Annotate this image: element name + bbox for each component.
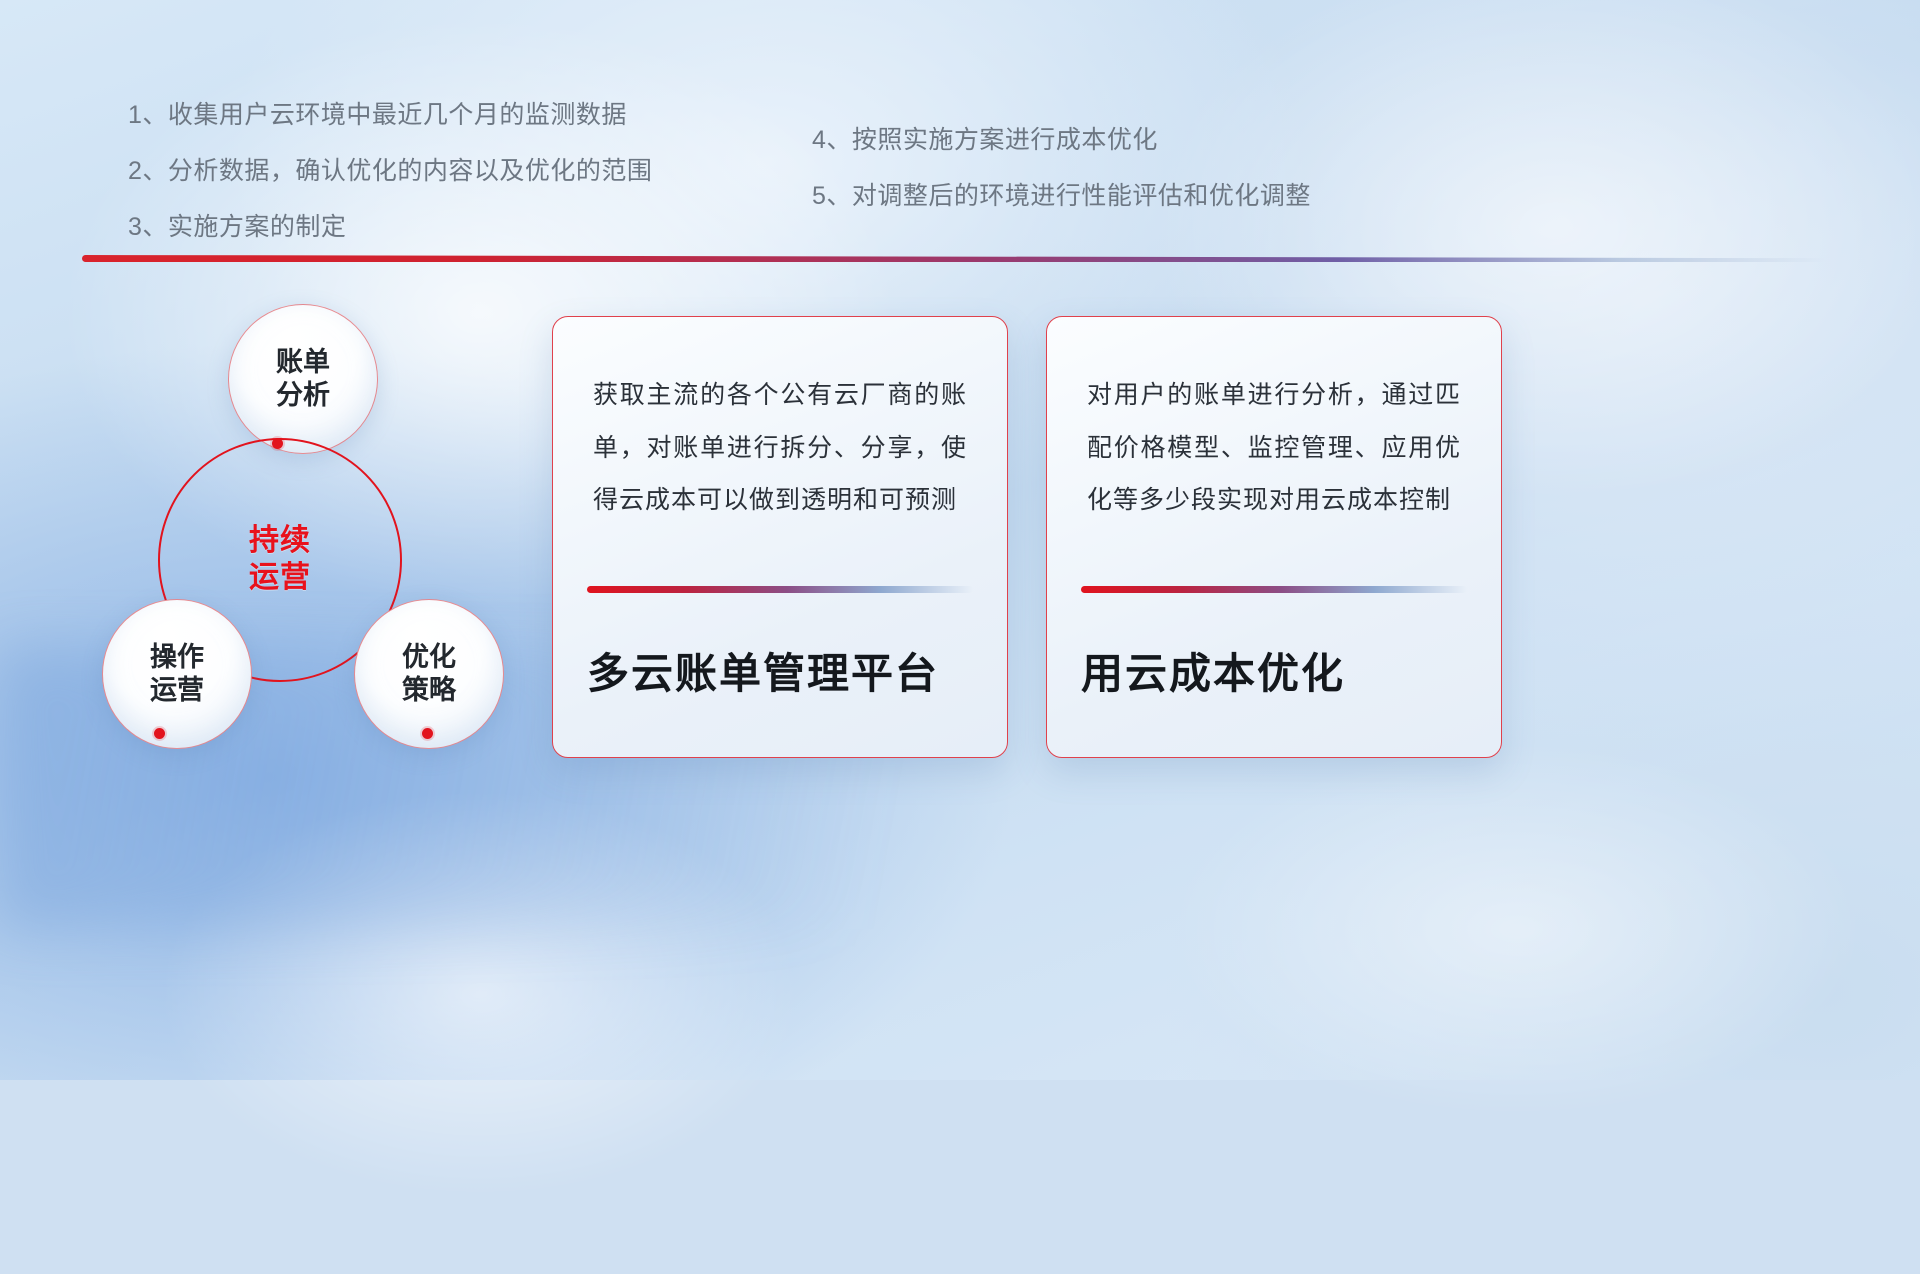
info-card-cloud-cost-optimization[interactable]: 对用户的账单进行分析，通过匹配价格模型、监控管理、应用优化等多少段实现对用云成本… [1046,316,1502,758]
venn-node-label-line1: 优化 [402,641,456,674]
venn-node-strategy[interactable]: 优化 策略 [354,599,504,749]
info-card-divider [1081,586,1467,593]
bullet-item: 2、分析数据，确认优化的内容以及优化的范围 [128,159,652,184]
bullet-item: 5、对调整后的环境进行性能评估和优化调整 [812,184,1311,209]
venn-center-label-line1: 持续 [249,523,311,560]
info-card-multi-cloud-bill-platform[interactable]: 获取主流的各个公有云厂商的账单，对账单进行拆分、分享，使得云成本可以做到透明和可… [552,316,1008,758]
info-card-title: 多云账单管理平台 [587,640,983,701]
venn-connector-dot-top [272,438,283,449]
info-card-body: 对用户的账单进行分析，通过匹配价格模型、监控管理、应用优化等多少段实现对用云成本… [1087,369,1461,527]
venn-node-label-line1: 账单 [276,346,330,379]
slide-canvas: 1、收集用户云环境中最近几个月的监测数据 2、分析数据，确认优化的内容以及优化的… [0,0,1920,1080]
venn-node-bill-analysis[interactable]: 账单 分析 [228,304,378,454]
venn-connector-dot-left [154,728,165,739]
venn-center-label-line2: 运营 [249,560,311,597]
info-card-body: 获取主流的各个公有云厂商的账单，对账单进行拆分、分享，使得云成本可以做到透明和可… [593,369,967,527]
venn-diagram: 账单 分析 持续 运营 操作 运营 优化 策略 [82,292,542,762]
info-card-title: 用云成本优化 [1081,640,1477,701]
bullet-list-right: 4、按照实施方案进行成本优化 5、对调整后的环境进行性能评估和优化调整 [812,128,1311,240]
venn-node-label-line1: 操作 [150,641,204,674]
bullet-list-left: 1、收集用户云环境中最近几个月的监测数据 2、分析数据，确认优化的内容以及优化的… [128,103,652,271]
bullet-item: 1、收集用户云环境中最近几个月的监测数据 [128,103,652,128]
venn-connector-dot-right [422,728,433,739]
venn-node-label-line2: 运营 [150,674,204,707]
venn-node-label-line2: 策略 [402,674,456,707]
venn-node-label-line2: 分析 [276,379,330,412]
bullet-item: 3、实施方案的制定 [128,215,652,240]
info-card-divider [587,586,973,593]
bullet-item: 4、按照实施方案进行成本优化 [812,128,1311,153]
venn-node-operations[interactable]: 操作 运营 [102,599,252,749]
